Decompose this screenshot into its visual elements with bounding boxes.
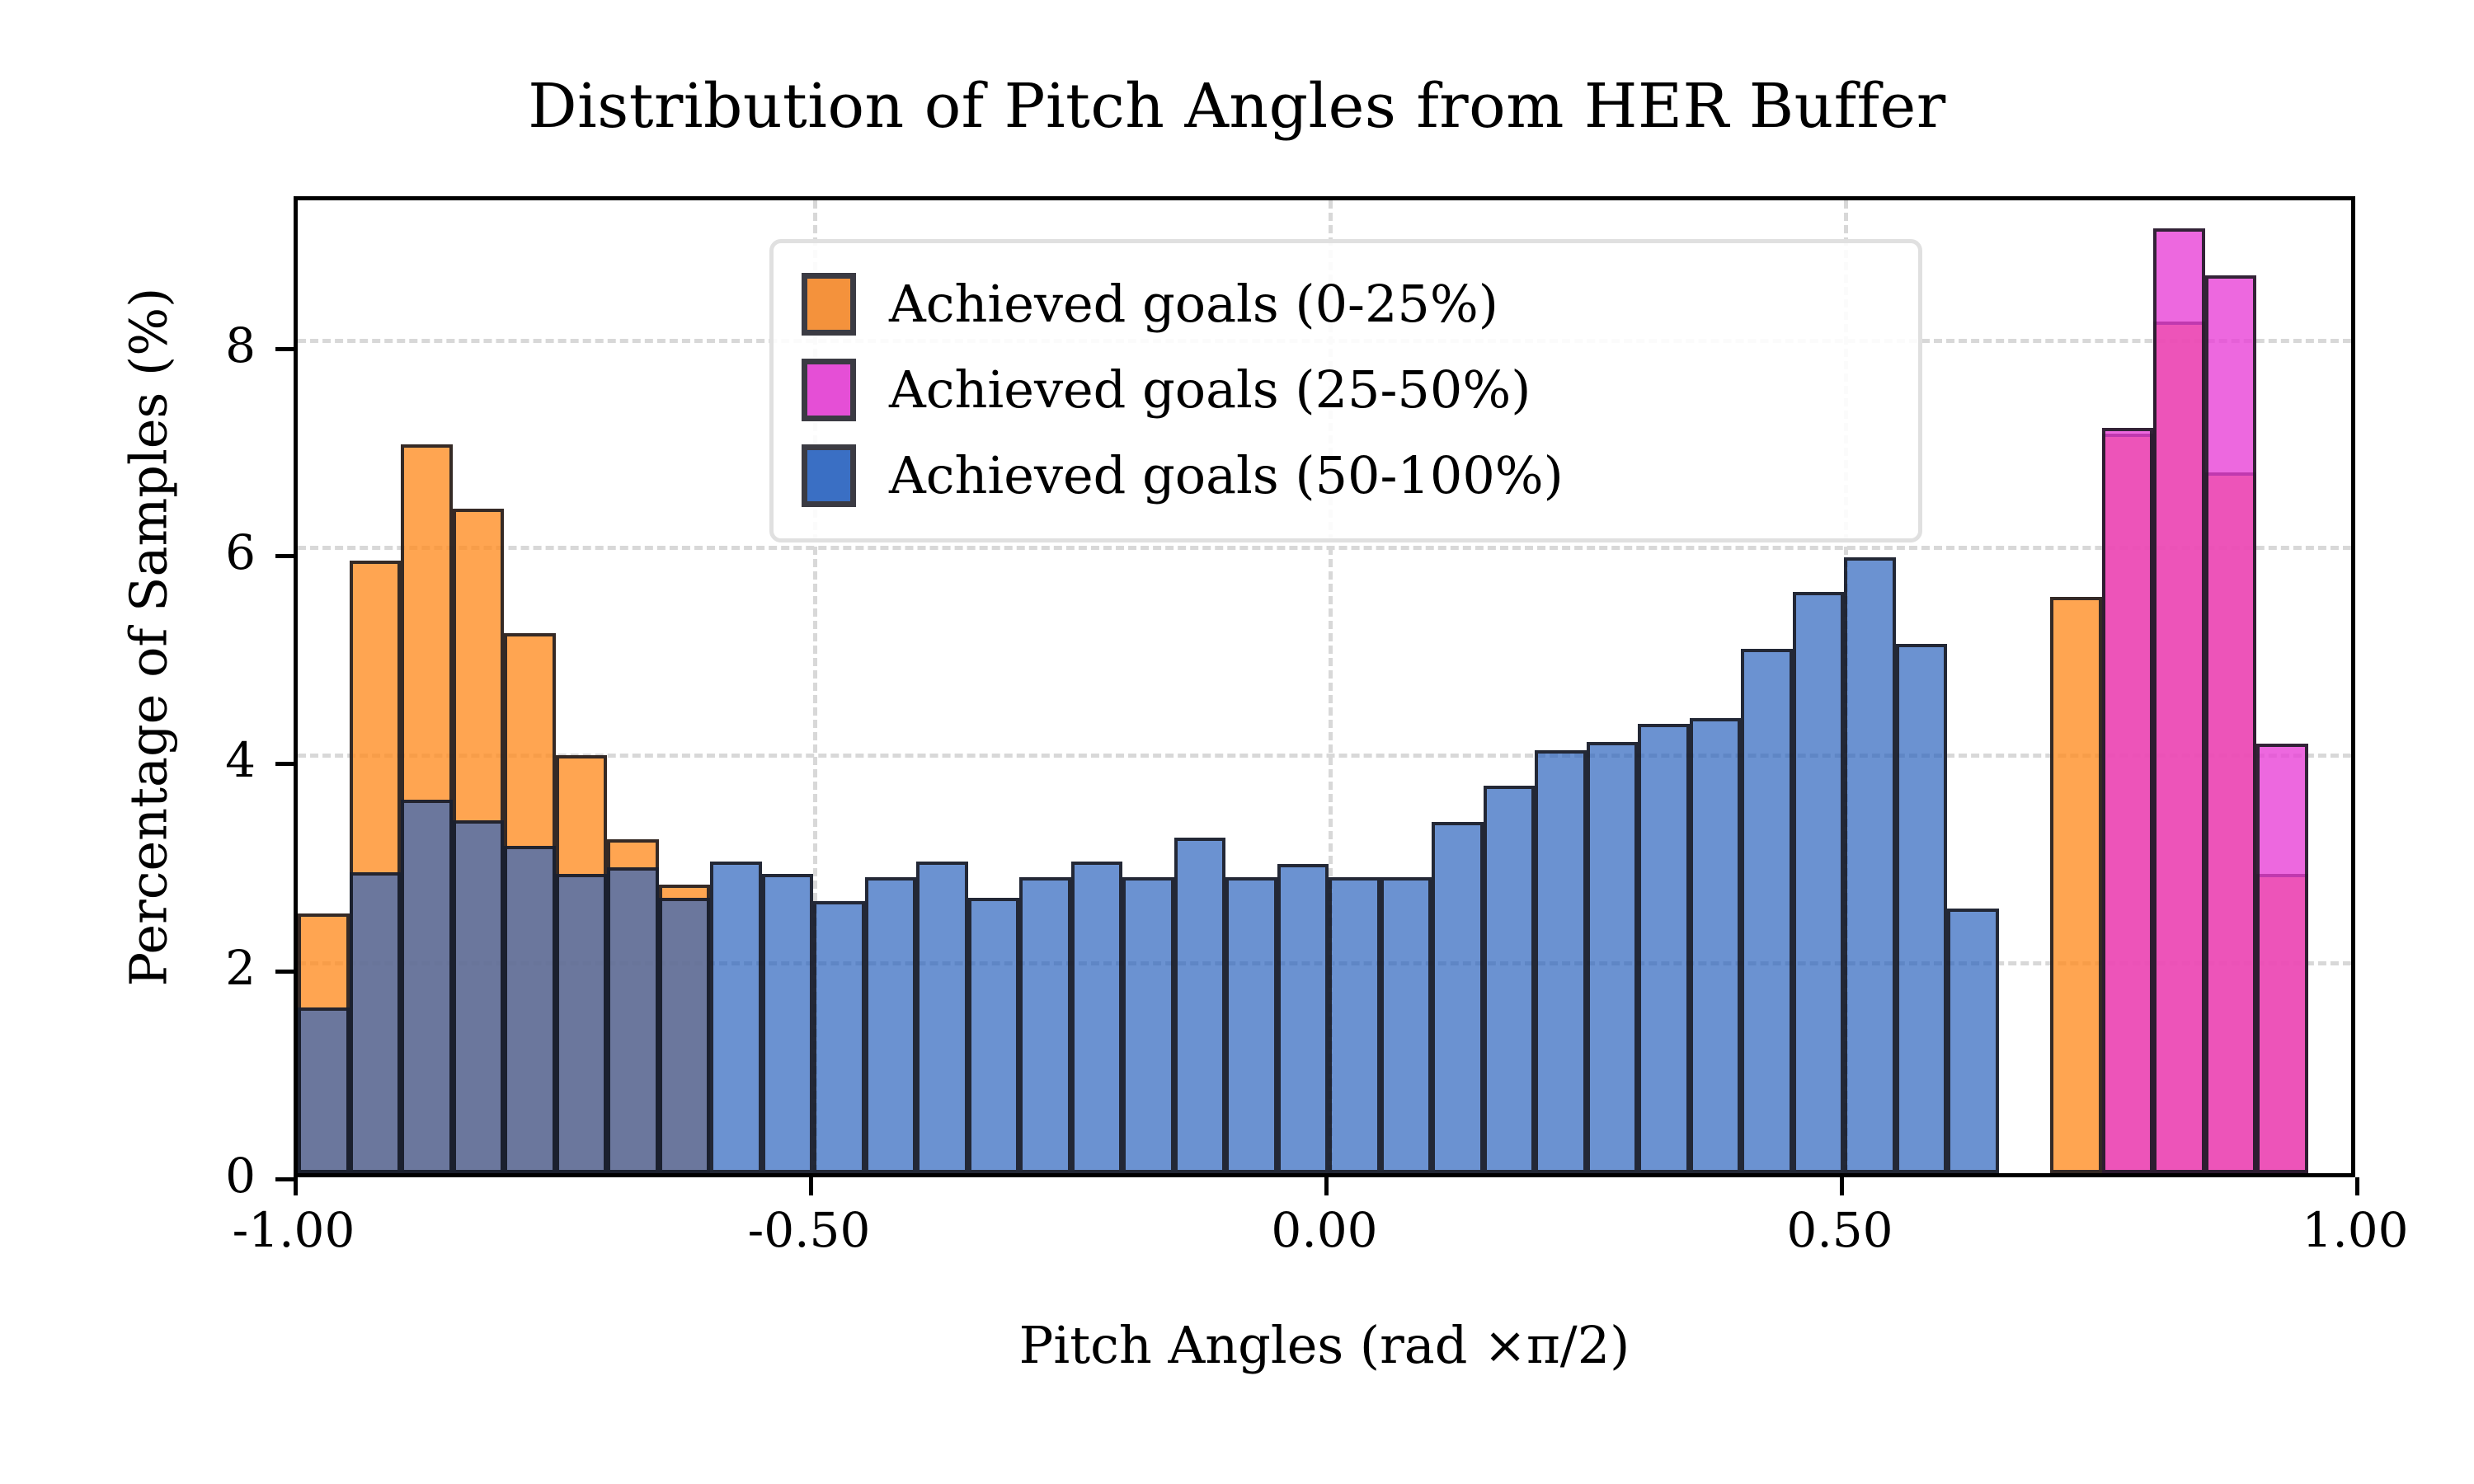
histogram-bar [453, 820, 505, 1173]
legend-item-label: Achieved goals (50-100%) [889, 450, 1564, 501]
histogram-bar [2102, 428, 2154, 1173]
y-tick-mark [275, 1177, 294, 1181]
histogram-bar [1844, 557, 1896, 1173]
legend-item-label: Achieved goals (25-50%) [889, 364, 1531, 416]
y-tick-label: 6 [91, 524, 256, 580]
legend-item[interactable]: Achieved goals (0-25%) [802, 261, 1893, 347]
y-tick-label: 4 [91, 732, 256, 788]
x-tick-mark [809, 1177, 813, 1195]
histogram-bar [1638, 724, 1690, 1173]
histogram-bar [659, 898, 711, 1173]
legend-item-label: Achieved goals (0-25%) [889, 279, 1498, 330]
histogram-bar [916, 862, 968, 1173]
histogram-bar [1535, 750, 1587, 1173]
x-tick-label: 0.50 [1700, 1202, 1980, 1258]
x-tick-label: -0.50 [669, 1202, 949, 1258]
chart-legend: Achieved goals (0-25%)Achieved goals (25… [769, 239, 1922, 542]
histogram-bar [2205, 275, 2257, 1173]
histogram-bar [556, 874, 608, 1173]
x-tick-mark [1840, 1177, 1844, 1195]
histogram-bar [968, 898, 1020, 1173]
x-tick-label: 0.00 [1184, 1202, 1465, 1258]
x-axis-label: Pitch Angles (rad ×π/2) [294, 1315, 2355, 1375]
histogram-bar [762, 874, 814, 1173]
y-tick-label: 0 [91, 1148, 256, 1204]
x-tick-label: -1.00 [153, 1202, 434, 1258]
y-tick-mark [275, 762, 294, 766]
histogram-bar [401, 800, 453, 1173]
histogram-bar [865, 877, 917, 1173]
histogram-bar [607, 867, 659, 1173]
histogram-bar [1122, 877, 1174, 1173]
histogram-bar [1019, 877, 1071, 1173]
y-tick-label: 8 [91, 317, 256, 373]
x-tick-label: 1.00 [2215, 1202, 2474, 1258]
x-tick-mark [2355, 1177, 2359, 1195]
histogram-bar [1329, 877, 1380, 1173]
histogram-bar [1690, 718, 1742, 1173]
histogram-bar [1432, 822, 1484, 1173]
histogram-bar [1277, 864, 1329, 1173]
legend-swatch-icon [802, 273, 856, 336]
histogram-bar [2153, 228, 2205, 1173]
legend-swatch-icon [802, 359, 856, 421]
histogram-bar [710, 862, 762, 1173]
legend-item[interactable]: Achieved goals (25-50%) [802, 347, 1893, 433]
histogram-bar [1380, 877, 1432, 1173]
y-tick-mark [275, 347, 294, 351]
y-axis-label: Percentage of Samples (%) [119, 327, 179, 987]
legend-item[interactable]: Achieved goals (50-100%) [802, 433, 1893, 519]
y-tick-label: 2 [91, 940, 256, 996]
histogram-bar [1896, 644, 1948, 1173]
y-tick-mark [275, 970, 294, 974]
histogram-figure: Distribution of Pitch Angles from HER Bu… [0, 0, 2474, 1484]
histogram-bar [2256, 744, 2308, 1173]
histogram-bar [1741, 649, 1793, 1173]
x-tick-mark [294, 1177, 298, 1195]
histogram-bar [350, 872, 402, 1173]
x-tick-mark [1324, 1177, 1329, 1195]
y-tick-mark [275, 554, 294, 558]
histogram-bar [1484, 786, 1536, 1173]
legend-swatch-icon [802, 444, 856, 507]
histogram-bar [504, 846, 556, 1173]
page-title: Distribution of Pitch Angles from HER Bu… [0, 71, 2474, 142]
histogram-bar [1587, 742, 1639, 1173]
histogram-bar [2050, 597, 2102, 1173]
histogram-bar [298, 1007, 350, 1173]
histogram-bar [1947, 909, 1999, 1173]
histogram-bar [1071, 862, 1123, 1173]
histogram-bar [813, 901, 865, 1173]
histogram-bar [1793, 592, 1845, 1173]
histogram-bar [1225, 877, 1277, 1173]
histogram-bar [1174, 838, 1226, 1173]
